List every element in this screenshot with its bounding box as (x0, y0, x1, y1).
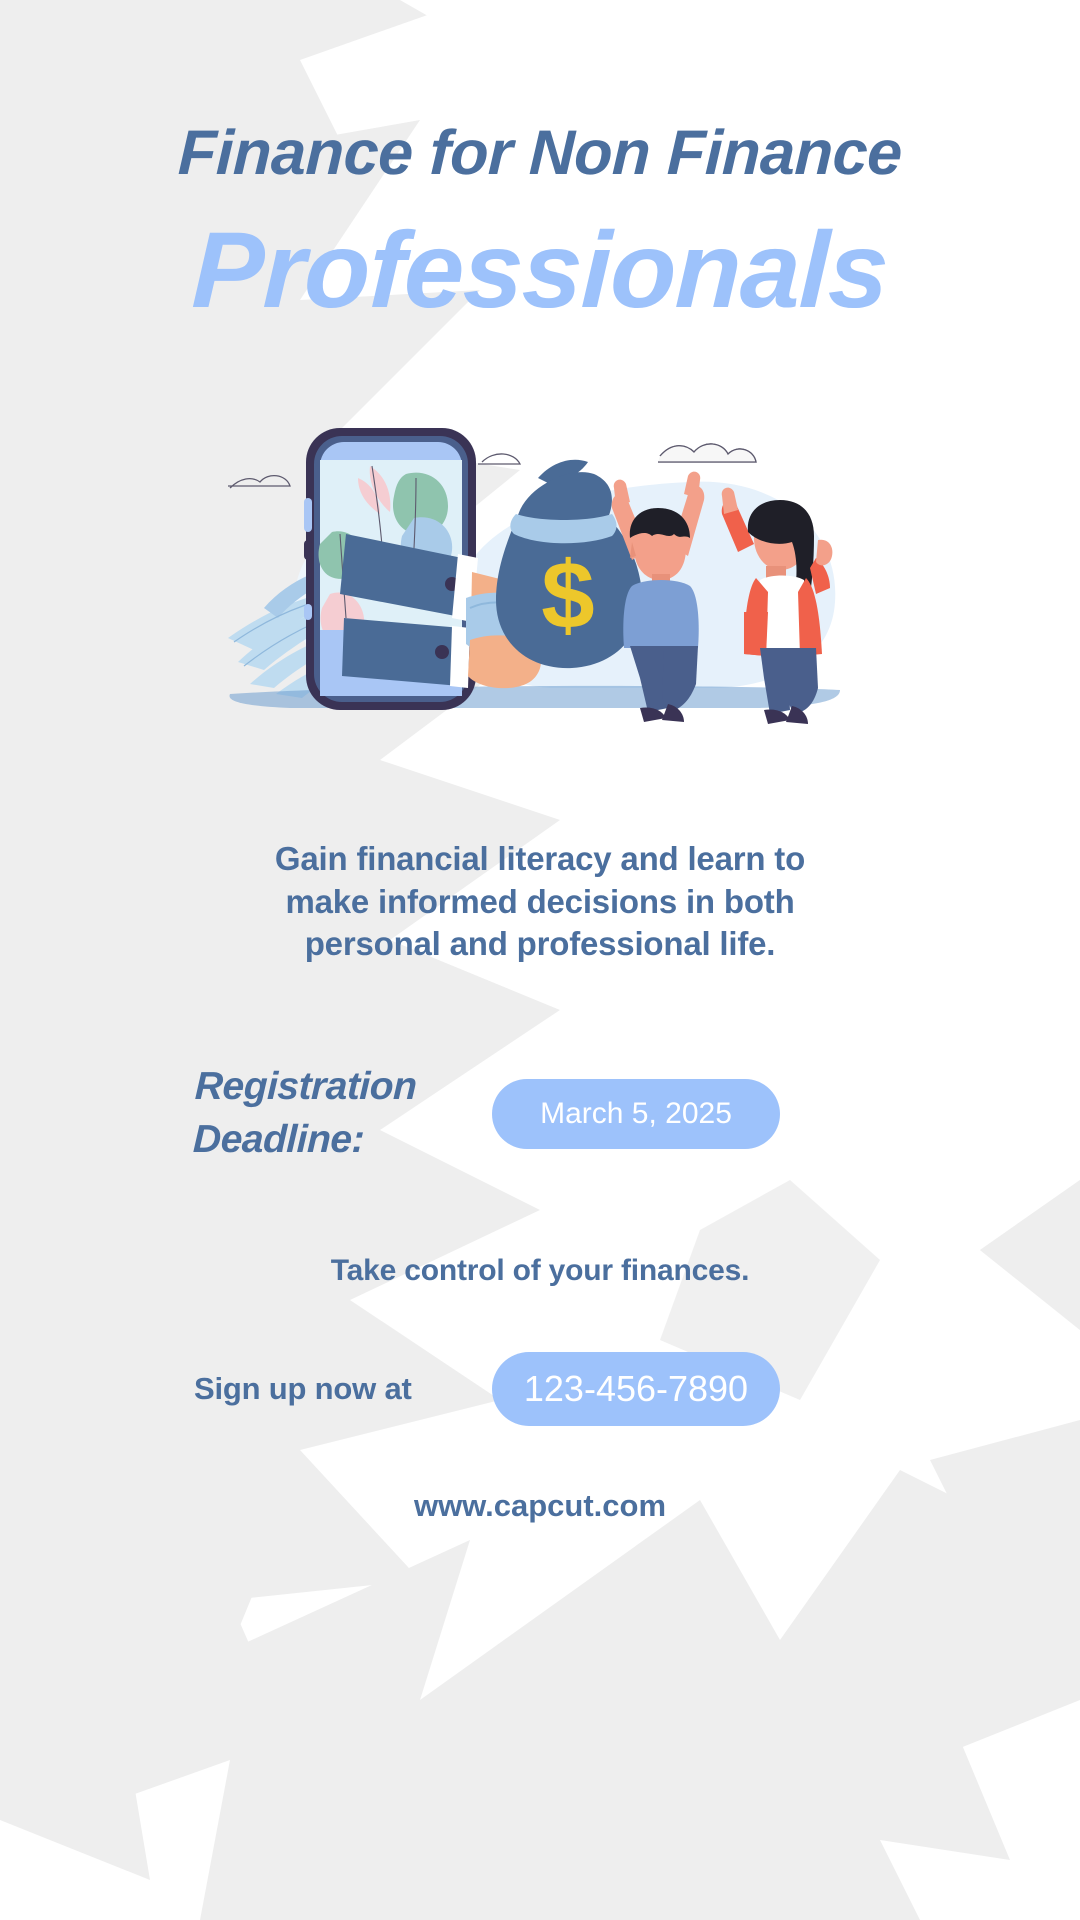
finance-illustration-svg: $ (220, 422, 860, 742)
signup-row: Sign up now at 123-456-7890 (180, 1352, 900, 1426)
hero-illustration: $ (220, 422, 860, 742)
signup-label: Sign up now at (180, 1371, 480, 1407)
page-title-line-1: Finance for Non Finance (0, 122, 1080, 185)
dollar-sign-label: $ (541, 542, 594, 649)
title-block: Finance for Non Finance Professionals (0, 122, 1080, 326)
page-title-line-2: Professionals (0, 213, 1080, 326)
website-link[interactable]: www.capcut.com (0, 1488, 1080, 1524)
registration-deadline-label: Registration Deadline: (178, 1061, 482, 1166)
poster-root: Finance for Non Finance Professionals (0, 0, 1080, 1920)
description-text: Gain financial literacy and learn to mak… (240, 838, 840, 965)
tagline-text: Take control of your finances. (190, 1254, 890, 1288)
registration-deadline-pill[interactable]: March 5, 2025 (492, 1079, 780, 1149)
phone-number-pill[interactable]: 123-456-7890 (492, 1352, 780, 1426)
registration-deadline-row: Registration Deadline: March 5, 2025 (180, 1061, 900, 1166)
